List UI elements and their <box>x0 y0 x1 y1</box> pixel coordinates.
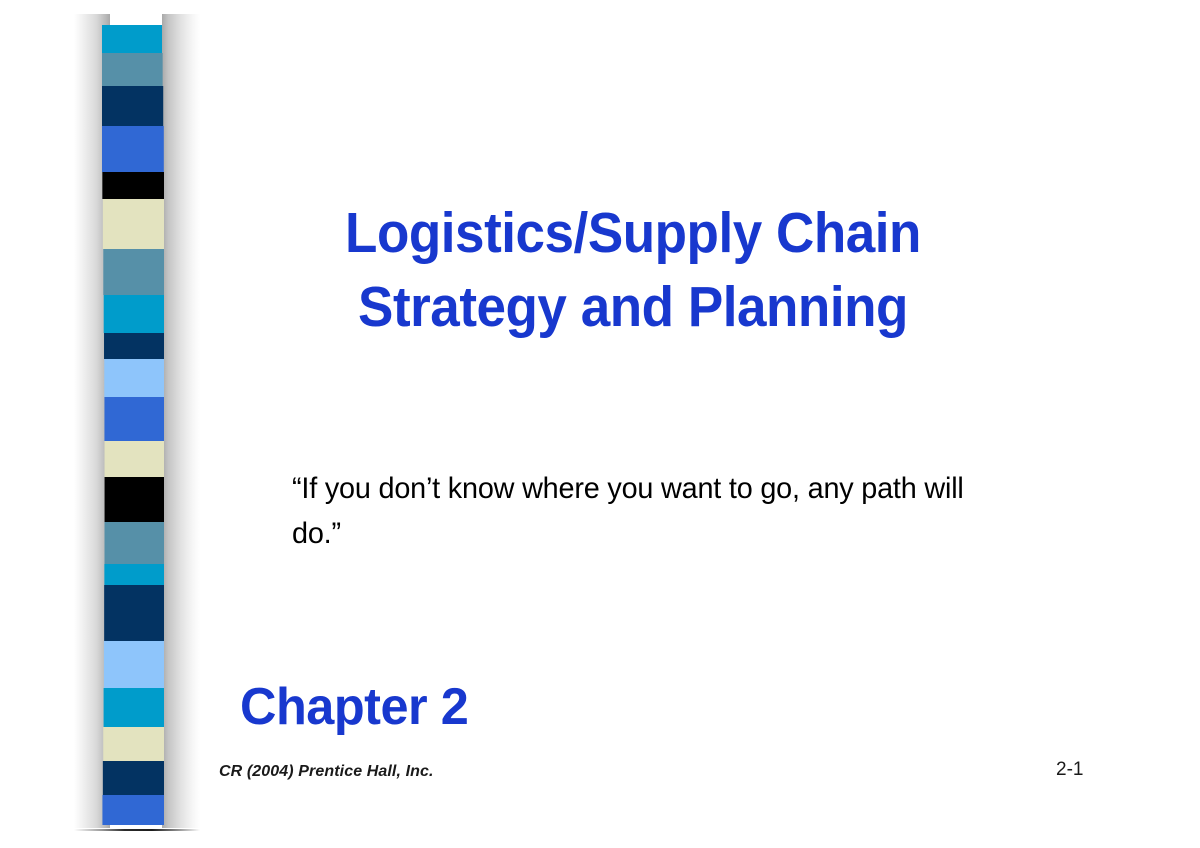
chapter-label: Chapter 2 <box>240 676 468 738</box>
color-band-stack <box>102 25 164 825</box>
slide-canvas: Logistics/Supply Chain Strategy and Plan… <box>0 0 1200 848</box>
color-band <box>104 688 164 727</box>
color-band <box>105 441 164 477</box>
color-band <box>102 25 162 53</box>
color-band <box>104 333 164 359</box>
color-band <box>103 727 164 761</box>
color-band <box>102 172 164 199</box>
color-band <box>103 249 164 295</box>
color-band <box>103 199 164 249</box>
color-band <box>102 126 164 172</box>
color-band <box>102 795 164 825</box>
decorative-color-strip <box>74 14 200 834</box>
color-band <box>105 477 164 522</box>
color-band <box>104 564 164 585</box>
strip-baseline-rule <box>74 829 200 831</box>
color-band <box>104 359 164 397</box>
color-band <box>104 641 164 688</box>
color-band <box>104 397 164 441</box>
color-band <box>104 295 164 333</box>
color-band <box>105 522 165 564</box>
color-band <box>102 86 163 126</box>
page-number: 2-1 <box>1056 759 1083 781</box>
slide-title: Logistics/Supply Chain Strategy and Plan… <box>247 196 1019 344</box>
color-band <box>104 585 164 641</box>
strip-shadow-right <box>162 14 200 828</box>
footer-copyright-credit: CR (2004) Prentice Hall, Inc. <box>219 763 434 781</box>
color-band <box>103 761 164 795</box>
slide-quote-text: “If you don’t know where you want to go,… <box>292 466 964 556</box>
color-band <box>102 53 163 86</box>
